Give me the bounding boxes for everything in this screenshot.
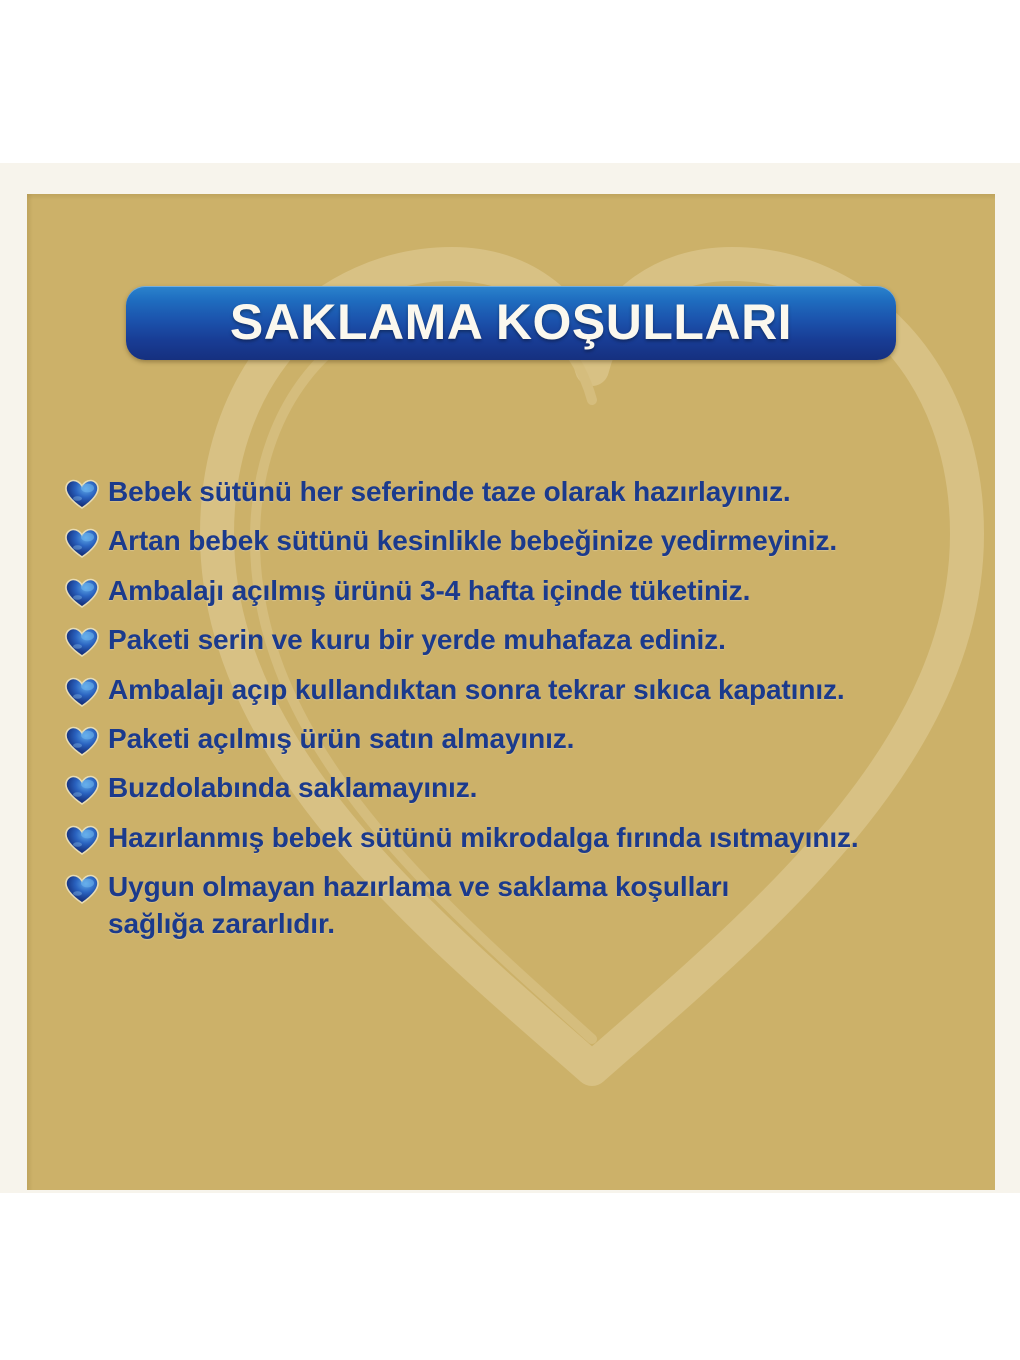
list-item: Buzdolabında saklamayınız. — [65, 770, 975, 806]
list-item-line2: sağlığa zararlıdır. — [108, 906, 729, 942]
list-item-line1: Ambalajı açılmış ürünü 3-4 hafta içinde … — [108, 575, 750, 606]
list-item: Artan bebek sütünü kesinlikle bebeğinize… — [65, 523, 975, 559]
list-item: Ambalajı açıp kullandıktan sonra tekrar … — [65, 672, 975, 708]
gold-panel: SAKLAMA KOŞULLARI — [27, 194, 995, 1190]
heart-bullet-icon — [65, 627, 99, 658]
title-banner: SAKLAMA KOŞULLARI — [126, 286, 896, 360]
list-item-label: Buzdolabında saklamayınız. — [108, 770, 477, 806]
list-item: Hazırlanmış bebek sütünü mikrodalga fırı… — [65, 820, 975, 856]
list-item-label: Ambalajı açılmış ürünü 3-4 hafta içinde … — [108, 573, 750, 609]
list-item-label: Paketi açılmış ürün satın almayınız. — [108, 721, 574, 757]
list-item: Bebek sütünü her seferinde taze olarak h… — [65, 474, 975, 510]
heart-bullet-icon — [65, 775, 99, 806]
heart-bullet-icon — [65, 578, 99, 609]
list-item-line1: Artan bebek sütünü kesinlikle bebeğinize… — [108, 525, 837, 556]
list-item: Paketi serin ve kuru bir yerde muhafaza … — [65, 622, 975, 658]
list-item-line1: Bebek sütünü her seferinde taze olarak h… — [108, 476, 791, 507]
list-item-line1: Ambalajı açıp kullandıktan sonra tekrar … — [108, 674, 845, 705]
list-item-line1: Paketi serin ve kuru bir yerde muhafaza … — [108, 624, 726, 655]
heart-bullet-icon — [65, 726, 99, 757]
list-item-label: Ambalajı açıp kullandıktan sonra tekrar … — [108, 672, 845, 708]
list-item-label: Artan bebek sütünü kesinlikle bebeğinize… — [108, 523, 837, 559]
heart-bullet-icon — [65, 479, 99, 510]
list-item: Uygun olmayan hazırlama ve saklama koşul… — [65, 869, 975, 942]
list-item-label: Bebek sütünü her seferinde taze olarak h… — [108, 474, 791, 510]
list-item-line1: Uygun olmayan hazırlama ve saklama koşul… — [108, 871, 729, 902]
page-root: SAKLAMA KOŞULLARI — [0, 0, 1020, 1360]
list-item: Ambalajı açılmış ürünü 3-4 hafta içinde … — [65, 573, 975, 609]
heart-bullet-icon — [65, 528, 99, 559]
list-item-label: Paketi serin ve kuru bir yerde muhafaza … — [108, 622, 726, 658]
list-item-line1: Hazırlanmış bebek sütünü mikrodalga fırı… — [108, 822, 859, 853]
heart-bullet-icon — [65, 874, 99, 905]
list-item-label: Hazırlanmış bebek sütünü mikrodalga fırı… — [108, 820, 859, 856]
title-banner-wrap: SAKLAMA KOŞULLARI — [27, 286, 995, 360]
list-item-line1: Paketi açılmış ürün satın almayınız. — [108, 723, 574, 754]
list-item-label: Uygun olmayan hazırlama ve saklama koşul… — [108, 869, 729, 942]
page-title: SAKLAMA KOŞULLARI — [230, 297, 792, 347]
heart-bullet-icon — [65, 677, 99, 708]
list-item-line1: Buzdolabında saklamayınız. — [108, 772, 477, 803]
storage-conditions-list: Bebek sütünü her seferinde taze olarak h… — [65, 474, 975, 955]
list-item: Paketi açılmış ürün satın almayınız. — [65, 721, 975, 757]
heart-bullet-icon — [65, 825, 99, 856]
